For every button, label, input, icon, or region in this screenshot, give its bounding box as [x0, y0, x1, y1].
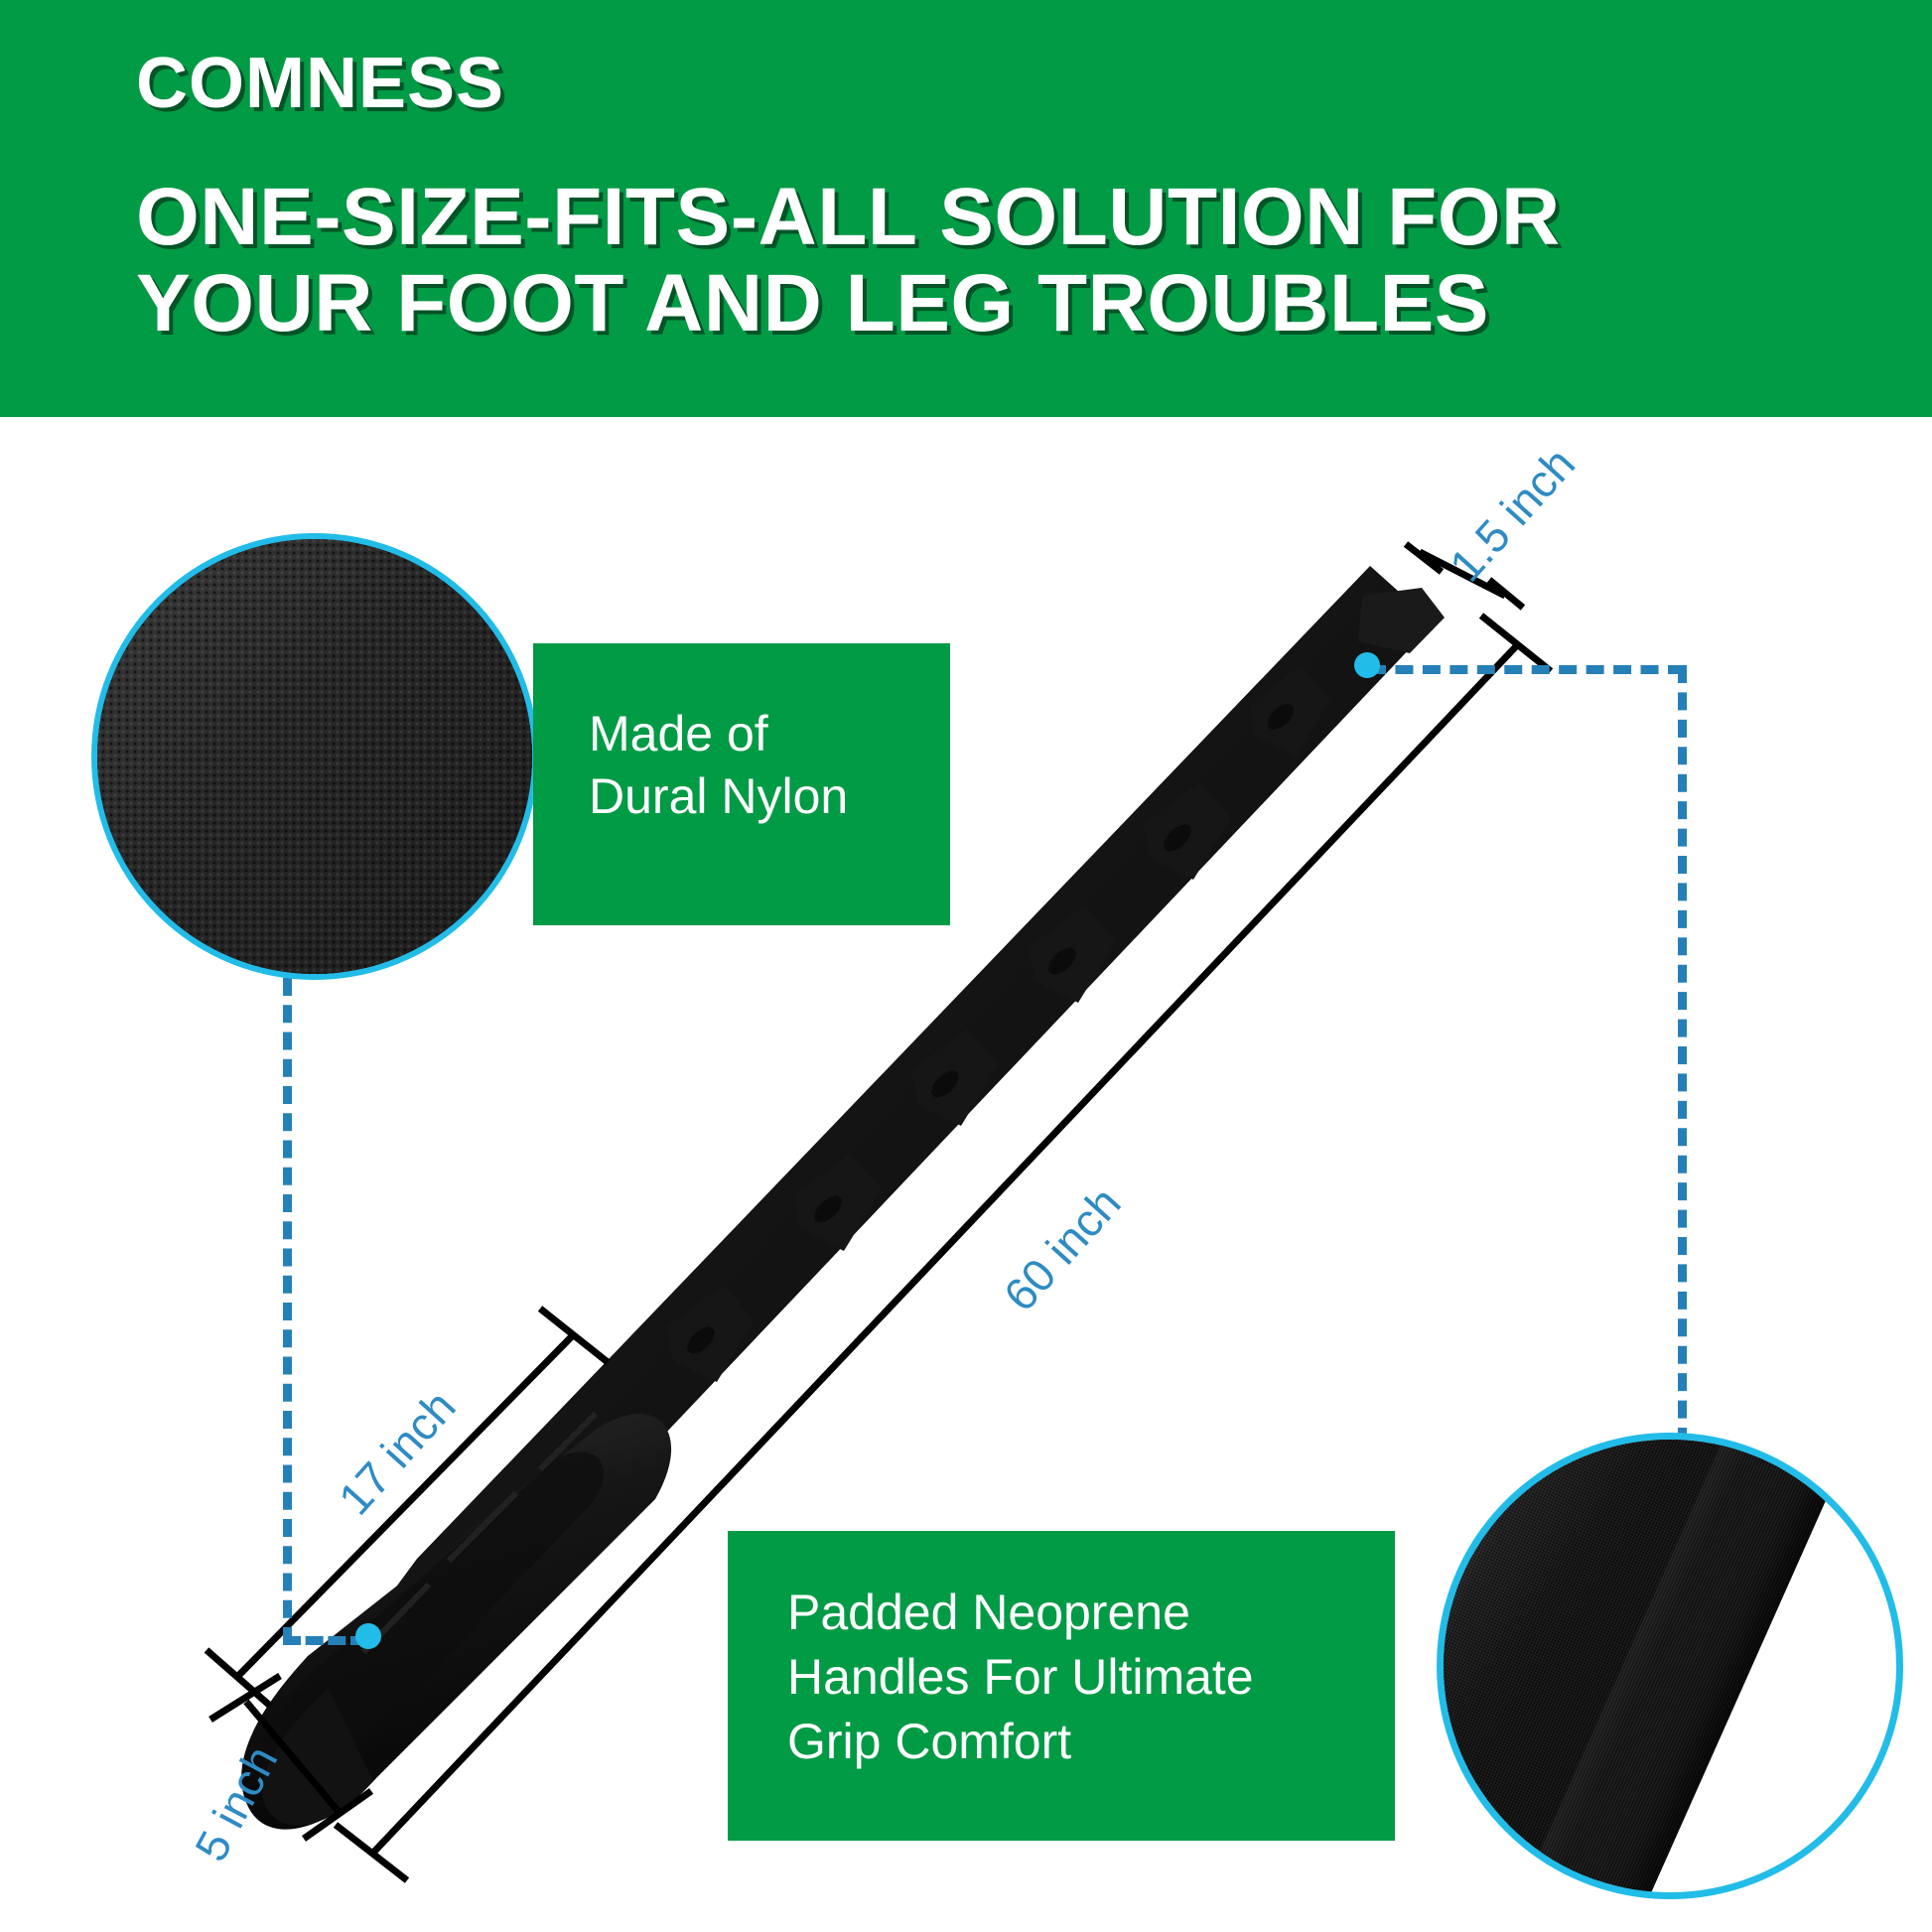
leader-line-right-vertical — [1678, 665, 1687, 1446]
brand-name: COMNESS — [136, 48, 504, 119]
anchor-dot-foot-pocket — [355, 1623, 381, 1649]
zoom-circle-neoprene-handle — [1437, 1433, 1903, 1899]
callout-handles-line-3: Grip Comfort — [787, 1710, 1395, 1774]
anchor-dot-strap-end — [1354, 652, 1380, 678]
headline-line-2: YOUR FOOT AND LEG TROUBLES — [136, 261, 1764, 347]
headline-line-1: ONE-SIZE-FITS-ALL SOLUTION FOR — [136, 175, 1764, 261]
callout-nylon-line-1: Made of — [589, 703, 950, 765]
callout-dural-nylon: Made of Dural Nylon — [533, 643, 950, 925]
nylon-weave-texture — [97, 539, 532, 974]
callout-handles-line-1: Padded Neoprene — [787, 1581, 1395, 1645]
leader-line-left-vertical — [283, 978, 292, 1645]
callout-handles-line-2: Handles For Ultimate — [787, 1645, 1395, 1710]
leader-line-right-horizontal — [1368, 665, 1686, 674]
callout-nylon-line-2: Dural Nylon — [589, 765, 950, 828]
zoom-circle-nylon-texture — [91, 533, 538, 980]
callout-padded-neoprene-handles: Padded Neoprene Handles For Ultimate Gri… — [728, 1531, 1395, 1841]
header-banner: COMNESS ONE-SIZE-FITS-ALL SOLUTION FOR Y… — [0, 0, 1932, 417]
page-title: ONE-SIZE-FITS-ALL SOLUTION FOR YOUR FOOT… — [136, 175, 1764, 347]
